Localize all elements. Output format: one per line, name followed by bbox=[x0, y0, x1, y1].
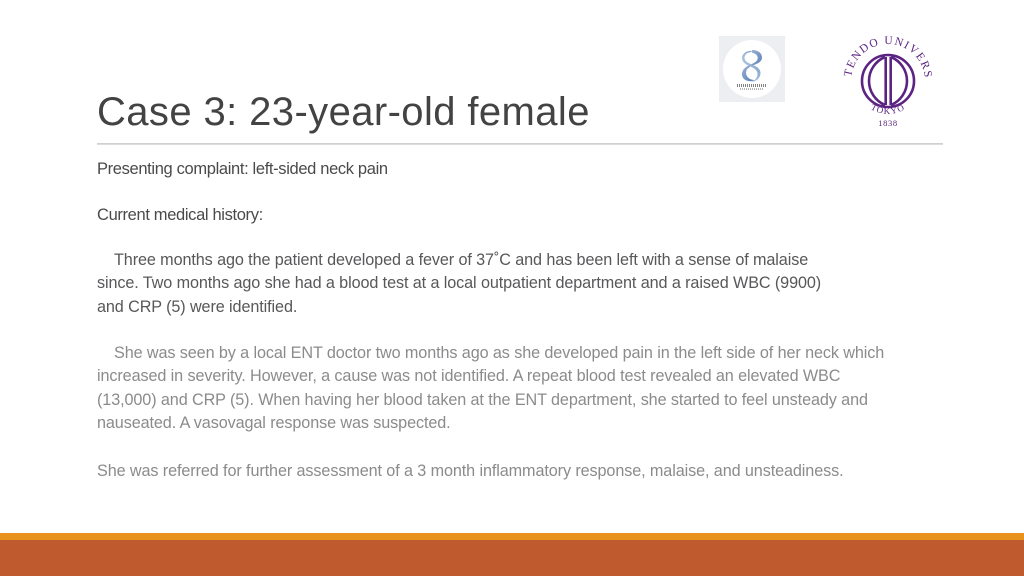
hospital-logo-microtext bbox=[737, 84, 767, 87]
svg-text:TOKYO: TOKYO bbox=[869, 102, 906, 116]
footer-band-amber bbox=[0, 533, 1024, 540]
slide-body: Presenting complaint: left-sided neck pa… bbox=[97, 158, 897, 484]
juntendo-university-seal-icon: JUNTENDO UNIVERSITY TOKYO 1838 bbox=[835, 25, 941, 131]
heading-current-medical-history: Current medical history: bbox=[97, 204, 897, 226]
title-divider bbox=[97, 143, 943, 145]
paragraph-referral-summary: She was referred for further assessment … bbox=[97, 460, 877, 484]
paragraph-history-onset: Three months ago the patient developed a… bbox=[97, 249, 839, 320]
hospital-logo-microtext-secondary bbox=[740, 88, 764, 90]
hospital-logo bbox=[719, 36, 785, 102]
svg-text:1838: 1838 bbox=[878, 118, 897, 128]
slide-title: Case 3: 23-year-old female bbox=[97, 92, 590, 132]
footer-band-terracotta bbox=[0, 540, 1024, 576]
svg-text:JUNTENDO UNIVERSITY: JUNTENDO UNIVERSITY bbox=[835, 25, 934, 79]
heading-presenting-complaint: Presenting complaint: left-sided neck pa… bbox=[97, 158, 897, 180]
paragraph-ent-referral: She was seen by a local ENT doctor two m… bbox=[97, 342, 887, 437]
hospital-ribbon-icon bbox=[739, 49, 765, 83]
hospital-logo-disc bbox=[723, 40, 781, 98]
slide-canvas: JUNTENDO UNIVERSITY TOKYO 1838 Case 3: 2… bbox=[0, 0, 1024, 576]
